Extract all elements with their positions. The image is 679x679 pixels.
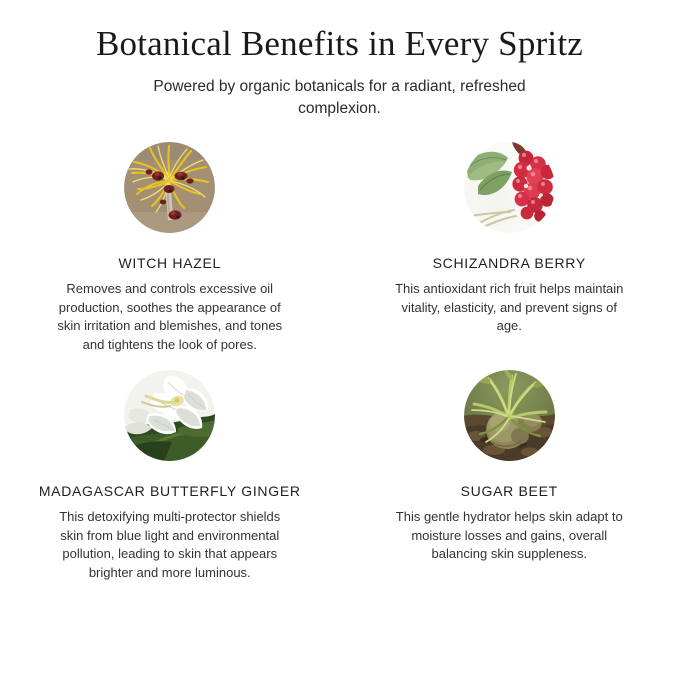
ingredient-card-butterfly-ginger: MADAGASCAR BUTTERFLY GINGER This detoxif… bbox=[0, 370, 340, 582]
page-header: Botanical Benefits in Every Spritz Power… bbox=[0, 0, 679, 120]
ingredient-card-schizandra-berry: SCHIZANDRA BERRY This antioxidant rich f… bbox=[340, 142, 679, 354]
ingredient-description: This detoxifying multi-protector shields… bbox=[47, 508, 292, 582]
ingredient-card-sugar-beet: SUGAR BEET This gentle hydrator helps sk… bbox=[340, 370, 679, 582]
ingredient-name: SCHIZANDRA BERRY bbox=[433, 255, 586, 271]
ingredient-grid: WITCH HAZEL Removes and controls excessi… bbox=[0, 142, 679, 582]
ingredient-description: This gentle hydrator helps skin adapt to… bbox=[393, 508, 625, 564]
page-title: Botanical Benefits in Every Spritz bbox=[0, 24, 679, 64]
ingredient-name: WITCH HAZEL bbox=[118, 255, 221, 271]
ingredient-name: SUGAR BEET bbox=[461, 483, 558, 499]
witch-hazel-photo bbox=[124, 142, 215, 233]
sugar-beet-photo bbox=[464, 370, 555, 461]
ingredient-description: Removes and controls excessive oil produ… bbox=[54, 280, 286, 354]
butterfly-ginger-photo bbox=[124, 370, 215, 461]
ingredient-name: MADAGASCAR BUTTERFLY GINGER bbox=[39, 483, 301, 499]
ingredient-description: This antioxidant rich fruit helps mainta… bbox=[393, 280, 625, 336]
schizandra-berry-photo bbox=[464, 142, 555, 233]
botanical-benefits-page: Botanical Benefits in Every Spritz Power… bbox=[0, 0, 679, 679]
ingredient-card-witch-hazel: WITCH HAZEL Removes and controls excessi… bbox=[0, 142, 340, 354]
page-subtitle: Powered by organic botanicals for a radi… bbox=[130, 76, 550, 120]
